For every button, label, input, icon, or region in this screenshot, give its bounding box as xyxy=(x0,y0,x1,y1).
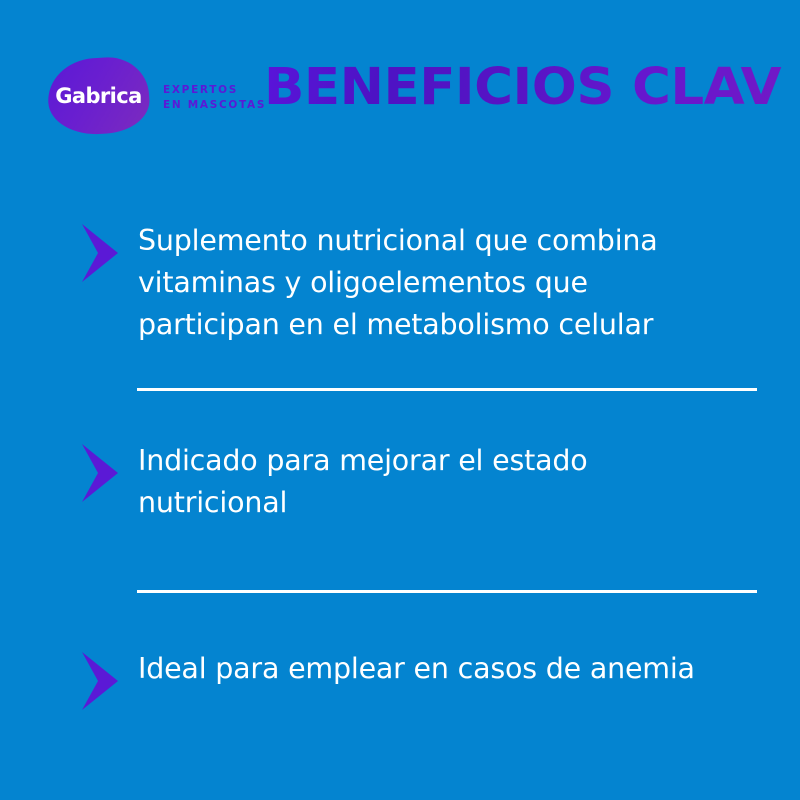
gabrica-logo: Gabrica xyxy=(48,58,149,134)
chevron-arrow-icon xyxy=(78,222,120,284)
benefits-list: Suplemento nutricional que combina vitam… xyxy=(0,150,800,800)
benefit-item: Ideal para emplear en casos de anemia xyxy=(78,648,768,712)
header-banner: Gabrica EXPERTOS EN MASCOTAS BENEFICIOS … xyxy=(0,0,800,150)
brand-tagline: EXPERTOS EN MASCOTAS xyxy=(163,79,266,113)
benefit-text: Suplemento nutricional que combina vitam… xyxy=(138,220,768,346)
page-title: BENEFICIOS CLAVE xyxy=(264,62,784,114)
logo-wordmark: Gabrica xyxy=(55,86,141,107)
benefit-divider xyxy=(137,590,757,593)
chevron-arrow-icon xyxy=(78,650,120,712)
brand-lockup: Gabrica EXPERTOS EN MASCOTAS xyxy=(48,58,266,134)
benefit-text: Ideal para emplear en casos de anemia xyxy=(138,648,768,690)
benefit-divider xyxy=(137,388,757,391)
benefit-item: Suplemento nutricional que combina vitam… xyxy=(78,220,768,346)
chevron-arrow-icon xyxy=(78,442,120,504)
benefit-item: Indicado para mejorar el estado nutricio… xyxy=(78,440,768,524)
benefit-text: Indicado para mejorar el estado nutricio… xyxy=(138,440,768,524)
